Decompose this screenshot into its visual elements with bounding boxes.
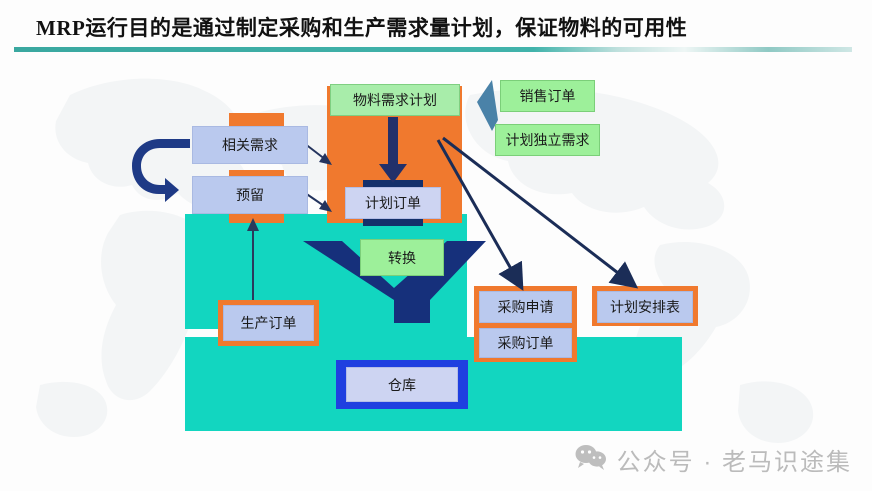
slide-canvas: MRP运行目的是通过制定采购和生产需求量计划，保证物料的可用性 xyxy=(0,0,872,491)
title-underline xyxy=(14,47,852,52)
wechat-watermark: 公众号 · 老马识途集 xyxy=(575,442,852,477)
box-material-requirements-plan-label: 物料需求计划 xyxy=(353,90,437,110)
orange-tab-top xyxy=(229,113,284,126)
box-purchase-requisition[interactable]: 采购申请 xyxy=(479,291,572,323)
box-purchase-requisition-label: 采购申请 xyxy=(498,297,554,317)
box-reservation-label: 预留 xyxy=(236,185,264,205)
box-convert[interactable]: 转换 xyxy=(360,239,444,276)
page-title: MRP运行目的是通过制定采购和生产需求量计划，保证物料的可用性 xyxy=(36,12,687,42)
box-planning-schedule-label: 计划安排表 xyxy=(610,297,680,317)
box-production-order-label: 生产订单 xyxy=(241,313,297,333)
box-sales-order-label: 销售订单 xyxy=(520,86,576,106)
box-warehouse-label: 仓库 xyxy=(388,375,416,395)
box-related-demand[interactable]: 相关需求 xyxy=(192,126,308,164)
box-production-order[interactable]: 生产订单 xyxy=(223,305,314,341)
box-purchase-order[interactable]: 采购订单 xyxy=(479,328,572,358)
box-purchase-order-label: 采购订单 xyxy=(498,333,554,353)
box-sales-order[interactable]: 销售订单 xyxy=(500,80,595,112)
box-related-demand-label: 相关需求 xyxy=(222,135,278,155)
box-planned-independent-requirement[interactable]: 计划独立需求 xyxy=(495,124,600,156)
box-planned-order-label: 计划订单 xyxy=(365,193,421,213)
wechat-watermark-text: 公众号 · 老马识途集 xyxy=(617,442,852,477)
box-warehouse[interactable]: 仓库 xyxy=(346,367,458,402)
box-planned-order[interactable]: 计划订单 xyxy=(345,187,441,219)
box-convert-label: 转换 xyxy=(388,248,416,268)
box-planning-schedule[interactable]: 计划安排表 xyxy=(597,291,693,323)
box-planned-independent-requirement-label: 计划独立需求 xyxy=(506,130,590,150)
wechat-icon xyxy=(575,444,607,475)
title-bar: MRP运行目的是通过制定采购和生产需求量计划，保证物料的可用性 xyxy=(0,0,872,56)
box-reservation[interactable]: 预留 xyxy=(192,176,308,214)
curved-loop-arrow-icon xyxy=(132,139,190,202)
box-material-requirements-plan[interactable]: 物料需求计划 xyxy=(330,84,460,116)
